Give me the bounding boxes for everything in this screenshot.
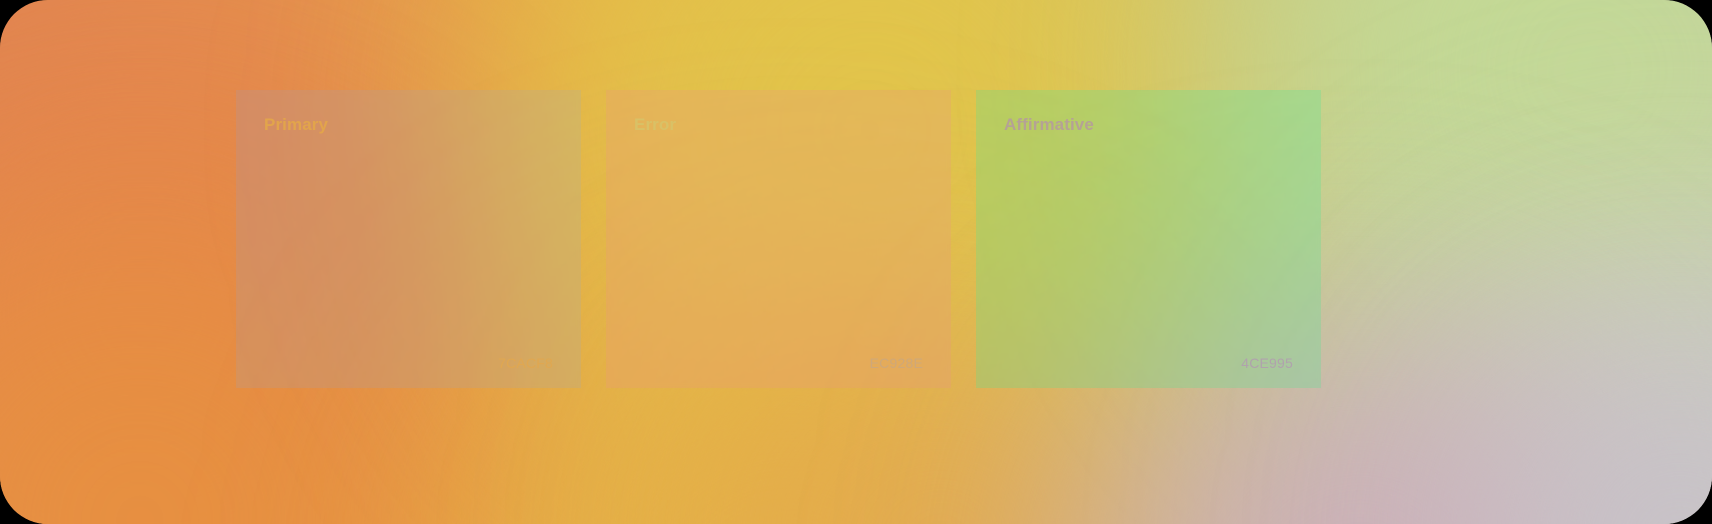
swatch-hex-primary: 7CACF8 — [264, 356, 553, 370]
swatch-title-error: Error — [634, 116, 923, 133]
swatch-hex-affirmative: 4CE995 — [1004, 356, 1293, 370]
swatch-title-primary: Primary — [264, 116, 553, 133]
swatch-title-affirmative: Affirmative — [1004, 116, 1293, 133]
swatch-card-affirmative[interactable]: Affirmative 4CE995 — [976, 90, 1321, 388]
swatch-hex-error: EC928E — [634, 356, 923, 370]
color-palette-canvas: Primary 7CACF8 Error EC928E Affirmative … — [0, 0, 1712, 524]
swatch-card-primary[interactable]: Primary 7CACF8 — [236, 90, 581, 388]
swatch-card-group: Primary 7CACF8 Error EC928E Affirmative … — [0, 0, 1712, 524]
swatch-card-error[interactable]: Error EC928E — [606, 90, 951, 388]
